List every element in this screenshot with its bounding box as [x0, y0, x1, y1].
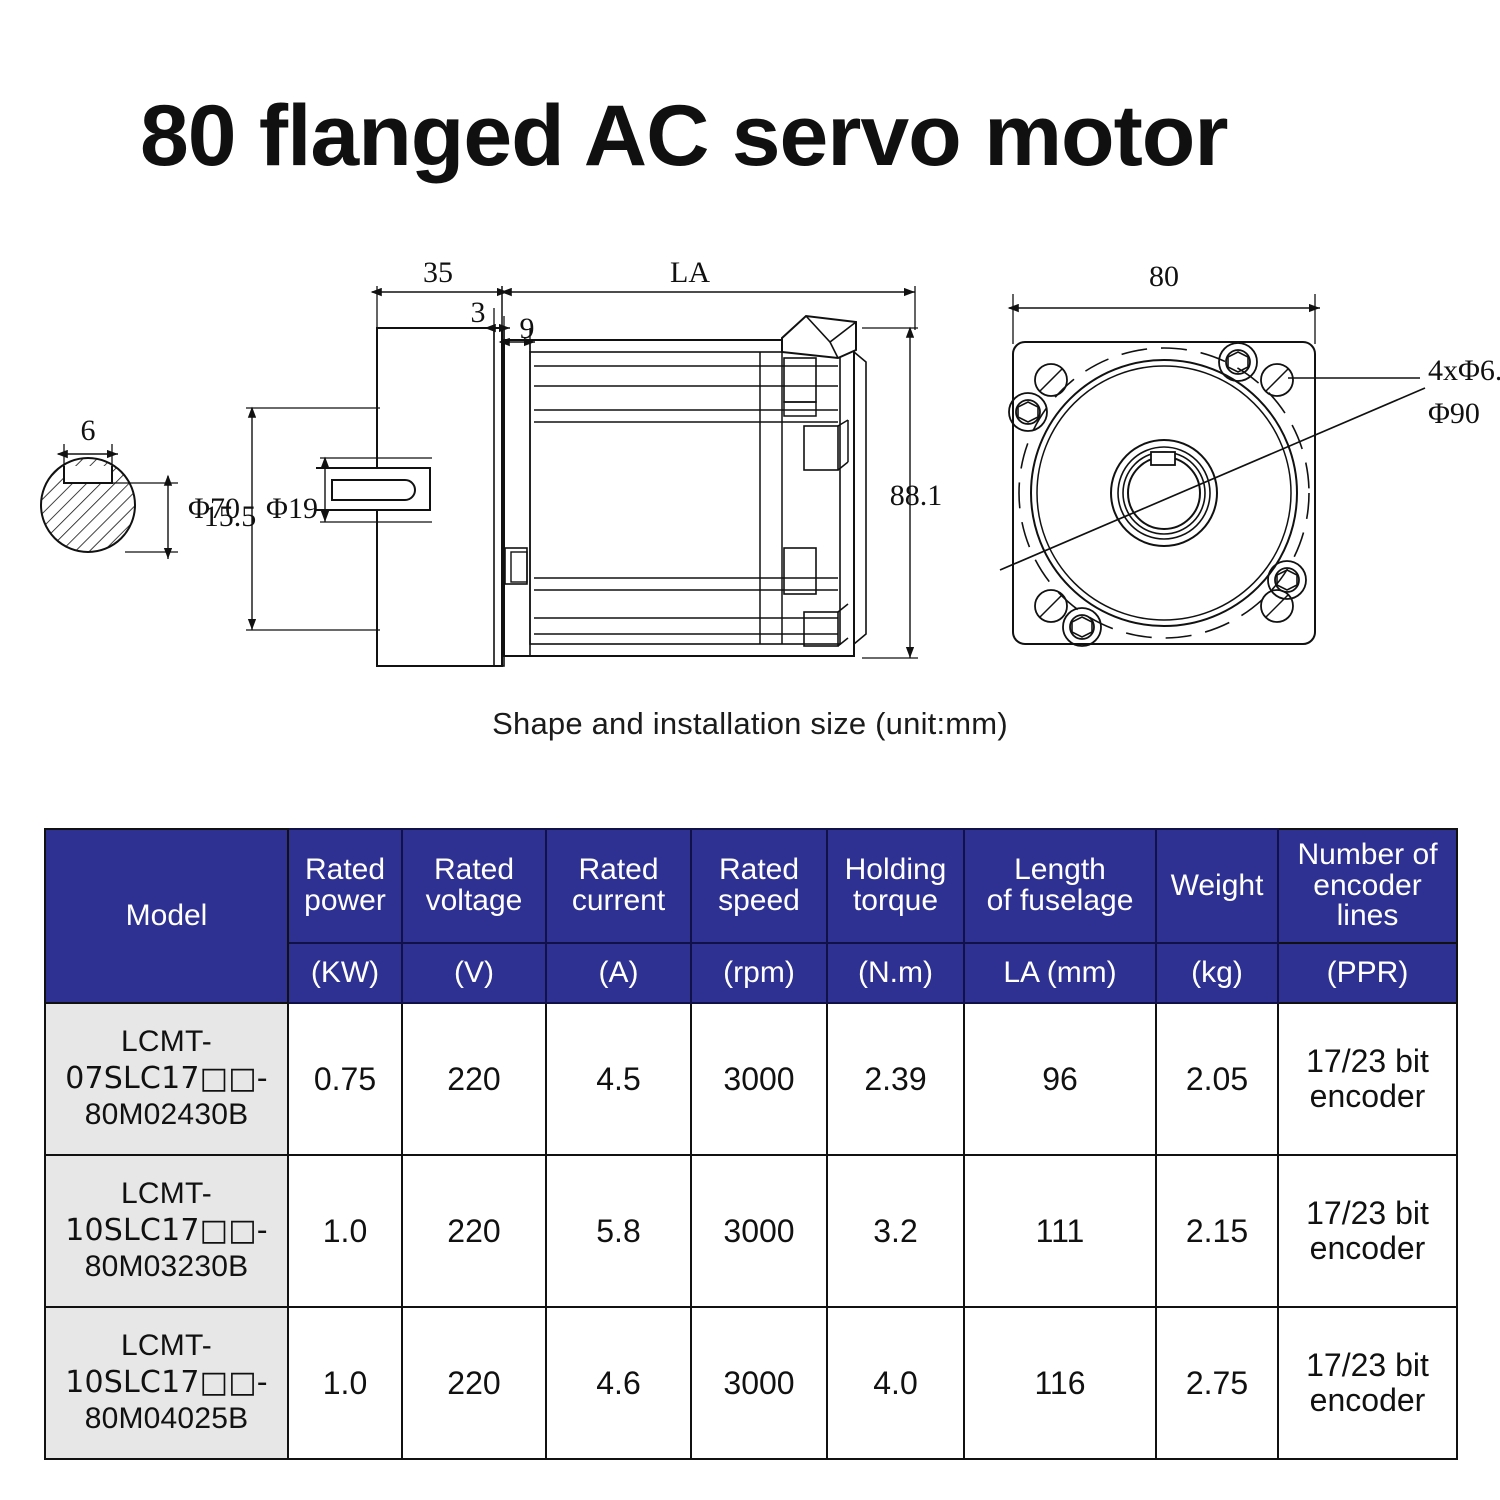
unit-header-voltage: (V): [402, 943, 546, 1003]
cell-length: 111: [964, 1155, 1156, 1307]
header-line-1: Holding: [828, 855, 963, 886]
model-line-3: 80M02430B: [46, 1097, 287, 1134]
column-header-model: Model: [45, 829, 288, 1003]
cell-voltage: 220: [402, 1307, 546, 1459]
column-header-rated-current: Rated current: [546, 829, 691, 943]
cell-torque: 3.2: [827, 1155, 964, 1307]
header-line-1: Number of: [1279, 840, 1456, 871]
model-line-2: 07SLC17□□-: [46, 1061, 287, 1098]
column-header-rated-speed: Rated speed: [691, 829, 827, 943]
unit-header-weight: (kg): [1156, 943, 1278, 1003]
cell-encoder: 17/23 bit encoder: [1278, 1307, 1457, 1459]
encoder-line-1: 17/23 bit: [1279, 1348, 1456, 1383]
encoder-line-1: 17/23 bit: [1279, 1196, 1456, 1231]
cell-power: 0.75: [288, 1003, 402, 1155]
cell-model: LCMT- 10SLC17□□- 80M03230B: [45, 1155, 288, 1307]
dim-body-height: 88.1: [890, 479, 943, 512]
dim-keyway-width: 6: [81, 414, 96, 447]
dim-step-9: 9: [520, 312, 535, 345]
cell-voltage: 220: [402, 1155, 546, 1307]
dim-front-width: 80: [1149, 260, 1179, 293]
table-row: LCMT- 10SLC17□□- 80M03230B 1.0 220 5.8 3…: [45, 1155, 1457, 1307]
unit-header-speed: (rpm): [691, 943, 827, 1003]
unit-header-encoder: (PPR): [1278, 943, 1457, 1003]
cell-current: 4.6: [546, 1307, 691, 1459]
front-view: [1000, 342, 1425, 646]
header-line-1: Rated: [692, 855, 826, 886]
column-header-encoder-lines: Number of encoder lines: [1278, 829, 1457, 943]
unit-header-power: (KW): [288, 943, 402, 1003]
side-view: [316, 316, 866, 666]
drawing-caption: Shape and installation size (unit:mm): [0, 706, 1500, 742]
dim-bolt-holes: 4xΦ6.5: [1428, 354, 1500, 387]
dim-step-3: 3: [471, 296, 486, 329]
unit-header-length: LA (mm): [964, 943, 1156, 1003]
technical-drawing: 6 15.5 35 LA 3 9 Φ70 Φ19 88.1 80 4xΦ6.5 …: [0, 230, 1500, 700]
cell-torque: 2.39: [827, 1003, 964, 1155]
cell-weight: 2.05: [1156, 1003, 1278, 1155]
model-line-1: LCMT-: [46, 1024, 287, 1061]
dim-flange-dia: Φ70: [188, 492, 240, 525]
model-line-1: LCMT-: [46, 1176, 287, 1213]
header-line-2: voltage: [403, 886, 545, 917]
cell-length: 96: [964, 1003, 1156, 1155]
cell-voltage: 220: [402, 1003, 546, 1155]
header-line-2: speed: [692, 886, 826, 917]
column-header-length-of-fuselage: Length of fuselage: [964, 829, 1156, 943]
cell-weight: 2.15: [1156, 1155, 1278, 1307]
dim-shaft-dia: Φ19: [266, 492, 318, 525]
column-header-rated-power: Rated power: [288, 829, 402, 943]
page-title: 80 flanged AC servo motor: [140, 86, 1415, 186]
cell-length: 116: [964, 1307, 1156, 1459]
header-line-2: of fuselage: [965, 886, 1155, 917]
model-line-2: 10SLC17□□-: [46, 1213, 287, 1250]
cell-power: 1.0: [288, 1307, 402, 1459]
model-line-3: 80M04025B: [46, 1401, 287, 1438]
table-header-row-primary: Model Rated power Rated voltage Rated cu…: [45, 829, 1457, 943]
cell-model: LCMT- 10SLC17□□- 80M04025B: [45, 1307, 288, 1459]
encoder-line-2: encoder: [1279, 1383, 1456, 1418]
dim-body-length: LA: [670, 256, 710, 289]
header-line-2: encoder lines: [1279, 871, 1456, 932]
column-header-weight: Weight: [1156, 829, 1278, 943]
cell-current: 4.5: [546, 1003, 691, 1155]
header-line-1: Rated: [289, 855, 401, 886]
cell-speed: 3000: [691, 1155, 827, 1307]
header-line-2: torque: [828, 886, 963, 917]
cell-torque: 4.0: [827, 1307, 964, 1459]
model-line-3: 80M03230B: [46, 1249, 287, 1286]
cell-weight: 2.75: [1156, 1307, 1278, 1459]
table-row: LCMT- 07SLC17□□- 80M02430B 0.75 220 4.5 …: [45, 1003, 1457, 1155]
table-row: LCMT- 10SLC17□□- 80M04025B 1.0 220 4.6 3…: [45, 1307, 1457, 1459]
cell-current: 5.8: [546, 1155, 691, 1307]
specification-table: Model Rated power Rated voltage Rated cu…: [44, 828, 1458, 1460]
cell-speed: 3000: [691, 1003, 827, 1155]
encoder-line-2: encoder: [1279, 1231, 1456, 1266]
column-header-rated-voltage: Rated voltage: [402, 829, 546, 943]
header-line-2: power: [289, 886, 401, 917]
unit-header-current: (A): [546, 943, 691, 1003]
cell-encoder: 17/23 bit encoder: [1278, 1155, 1457, 1307]
unit-header-torque: (N.m): [827, 943, 964, 1003]
keyway-section-view: [41, 444, 178, 559]
cell-power: 1.0: [288, 1155, 402, 1307]
encoder-line-1: 17/23 bit: [1279, 1044, 1456, 1079]
model-line-2: 10SLC17□□-: [46, 1365, 287, 1402]
header-line-2: current: [547, 886, 690, 917]
cell-model: LCMT- 07SLC17□□- 80M02430B: [45, 1003, 288, 1155]
dim-flange-depth: 35: [423, 256, 453, 289]
header-line-1: Rated: [403, 855, 545, 886]
cell-speed: 3000: [691, 1307, 827, 1459]
encoder-line-2: encoder: [1279, 1079, 1456, 1114]
column-header-holding-torque: Holding torque: [827, 829, 964, 943]
front-view-dimensions: [1009, 294, 1320, 344]
header-line-1: Length: [965, 855, 1155, 886]
dim-pilot-circle: Φ90: [1428, 397, 1480, 430]
header-line-1: Rated: [547, 855, 690, 886]
model-line-1: LCMT-: [46, 1328, 287, 1365]
cell-encoder: 17/23 bit encoder: [1278, 1003, 1457, 1155]
